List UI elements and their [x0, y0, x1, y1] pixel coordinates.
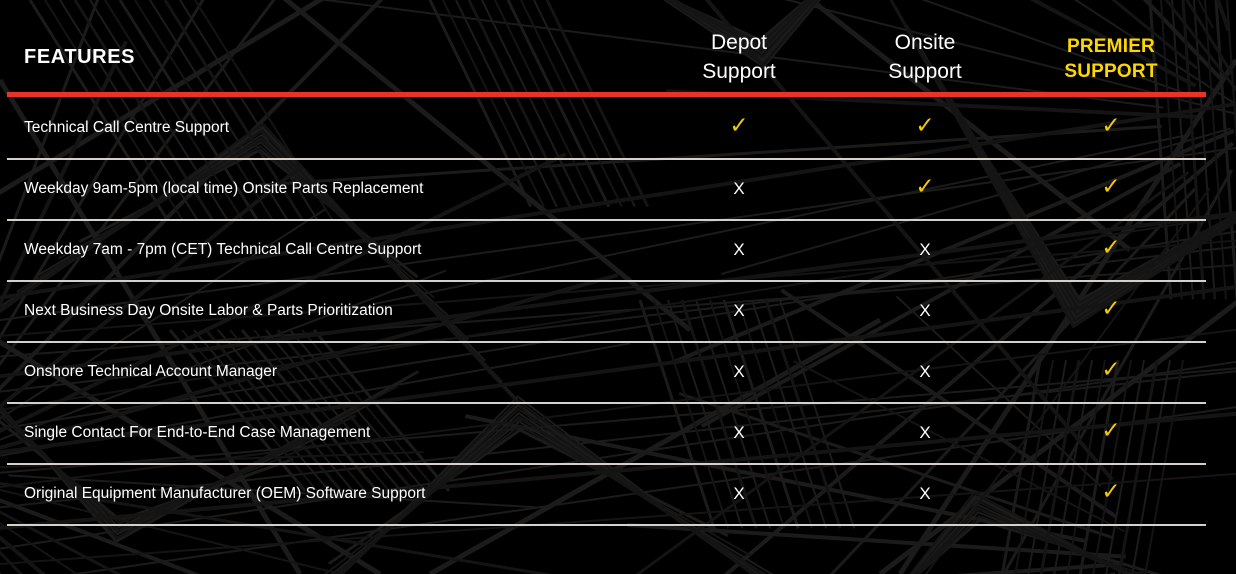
- feature-label: Onshore Technical Account Manager: [24, 341, 277, 402]
- cell-depot: X: [639, 158, 839, 219]
- cell-onsite: ✓: [825, 158, 1025, 219]
- cell-onsite: X: [825, 463, 1025, 524]
- cross-icon: X: [919, 485, 930, 502]
- table-row: Next Business Day Onsite Labor & Parts P…: [0, 280, 1236, 341]
- feature-label: Single Contact For End-to-End Case Manag…: [24, 402, 370, 463]
- row-divider: [7, 402, 1206, 404]
- column-header-onsite: Onsite Support: [825, 28, 1025, 86]
- cross-icon: X: [919, 424, 930, 441]
- check-icon: ✓: [729, 115, 748, 138]
- table-row: Single Contact For End-to-End Case Manag…: [0, 402, 1236, 463]
- row-divider: [7, 463, 1206, 465]
- row-divider: [7, 341, 1206, 343]
- check-icon: ✓: [1101, 420, 1120, 443]
- table-header: FEATURES Depot Support Onsite Support PR…: [0, 0, 1236, 95]
- cell-premier: ✓: [1011, 341, 1211, 402]
- cell-premier: ✓: [1011, 219, 1211, 280]
- cross-icon: X: [733, 180, 744, 197]
- cell-depot: X: [639, 402, 839, 463]
- header-accent-rule: [7, 92, 1206, 97]
- cell-onsite: X: [825, 341, 1025, 402]
- table-row: Weekday 9am-5pm (local time) Onsite Part…: [0, 158, 1236, 219]
- cross-icon: X: [733, 363, 744, 380]
- row-divider: [7, 524, 1206, 526]
- comparison-table: FEATURES Depot Support Onsite Support PR…: [0, 0, 1236, 574]
- check-icon: ✓: [1101, 176, 1120, 199]
- cell-onsite: ✓: [825, 97, 1025, 158]
- feature-label: Technical Call Centre Support: [24, 97, 229, 158]
- cross-icon: X: [733, 241, 744, 258]
- cell-depot: ✓: [639, 97, 839, 158]
- cell-depot: X: [639, 280, 839, 341]
- feature-label: Next Business Day Onsite Labor & Parts P…: [24, 280, 393, 341]
- check-icon: ✓: [1101, 115, 1120, 138]
- column-header-premier: PREMIER SUPPORT: [1011, 34, 1211, 84]
- cell-depot: X: [639, 219, 839, 280]
- check-icon: ✓: [915, 176, 934, 199]
- cell-premier: ✓: [1011, 463, 1211, 524]
- feature-label: Original Equipment Manufacturer (OEM) So…: [24, 463, 425, 524]
- row-divider: [7, 219, 1206, 221]
- table-row: Weekday 7am - 7pm (CET) Technical Call C…: [0, 219, 1236, 280]
- feature-label: Weekday 7am - 7pm (CET) Technical Call C…: [24, 219, 421, 280]
- row-divider: [7, 158, 1206, 160]
- cross-icon: X: [919, 302, 930, 319]
- cross-icon: X: [733, 302, 744, 319]
- features-header-label: FEATURES: [24, 46, 135, 69]
- table-row: Onshore Technical Account ManagerXX✓: [0, 341, 1236, 402]
- cross-icon: X: [733, 424, 744, 441]
- cell-depot: X: [639, 463, 839, 524]
- cross-icon: X: [733, 485, 744, 502]
- row-divider: [7, 280, 1206, 282]
- cross-icon: X: [919, 363, 930, 380]
- cell-onsite: X: [825, 280, 1025, 341]
- feature-label: Weekday 9am-5pm (local time) Onsite Part…: [24, 158, 423, 219]
- check-icon: ✓: [1101, 481, 1120, 504]
- table-row: Original Equipment Manufacturer (OEM) So…: [0, 463, 1236, 524]
- check-icon: ✓: [1101, 359, 1120, 382]
- cell-premier: ✓: [1011, 280, 1211, 341]
- table-row: Technical Call Centre Support✓✓✓: [0, 97, 1236, 158]
- check-icon: ✓: [915, 115, 934, 138]
- cell-depot: X: [639, 341, 839, 402]
- column-header-depot: Depot Support: [639, 28, 839, 86]
- cross-icon: X: [919, 241, 930, 258]
- cell-premier: ✓: [1011, 97, 1211, 158]
- cell-premier: ✓: [1011, 402, 1211, 463]
- cell-onsite: X: [825, 219, 1025, 280]
- cell-premier: ✓: [1011, 158, 1211, 219]
- cell-onsite: X: [825, 402, 1025, 463]
- check-icon: ✓: [1101, 237, 1120, 260]
- check-icon: ✓: [1101, 298, 1120, 321]
